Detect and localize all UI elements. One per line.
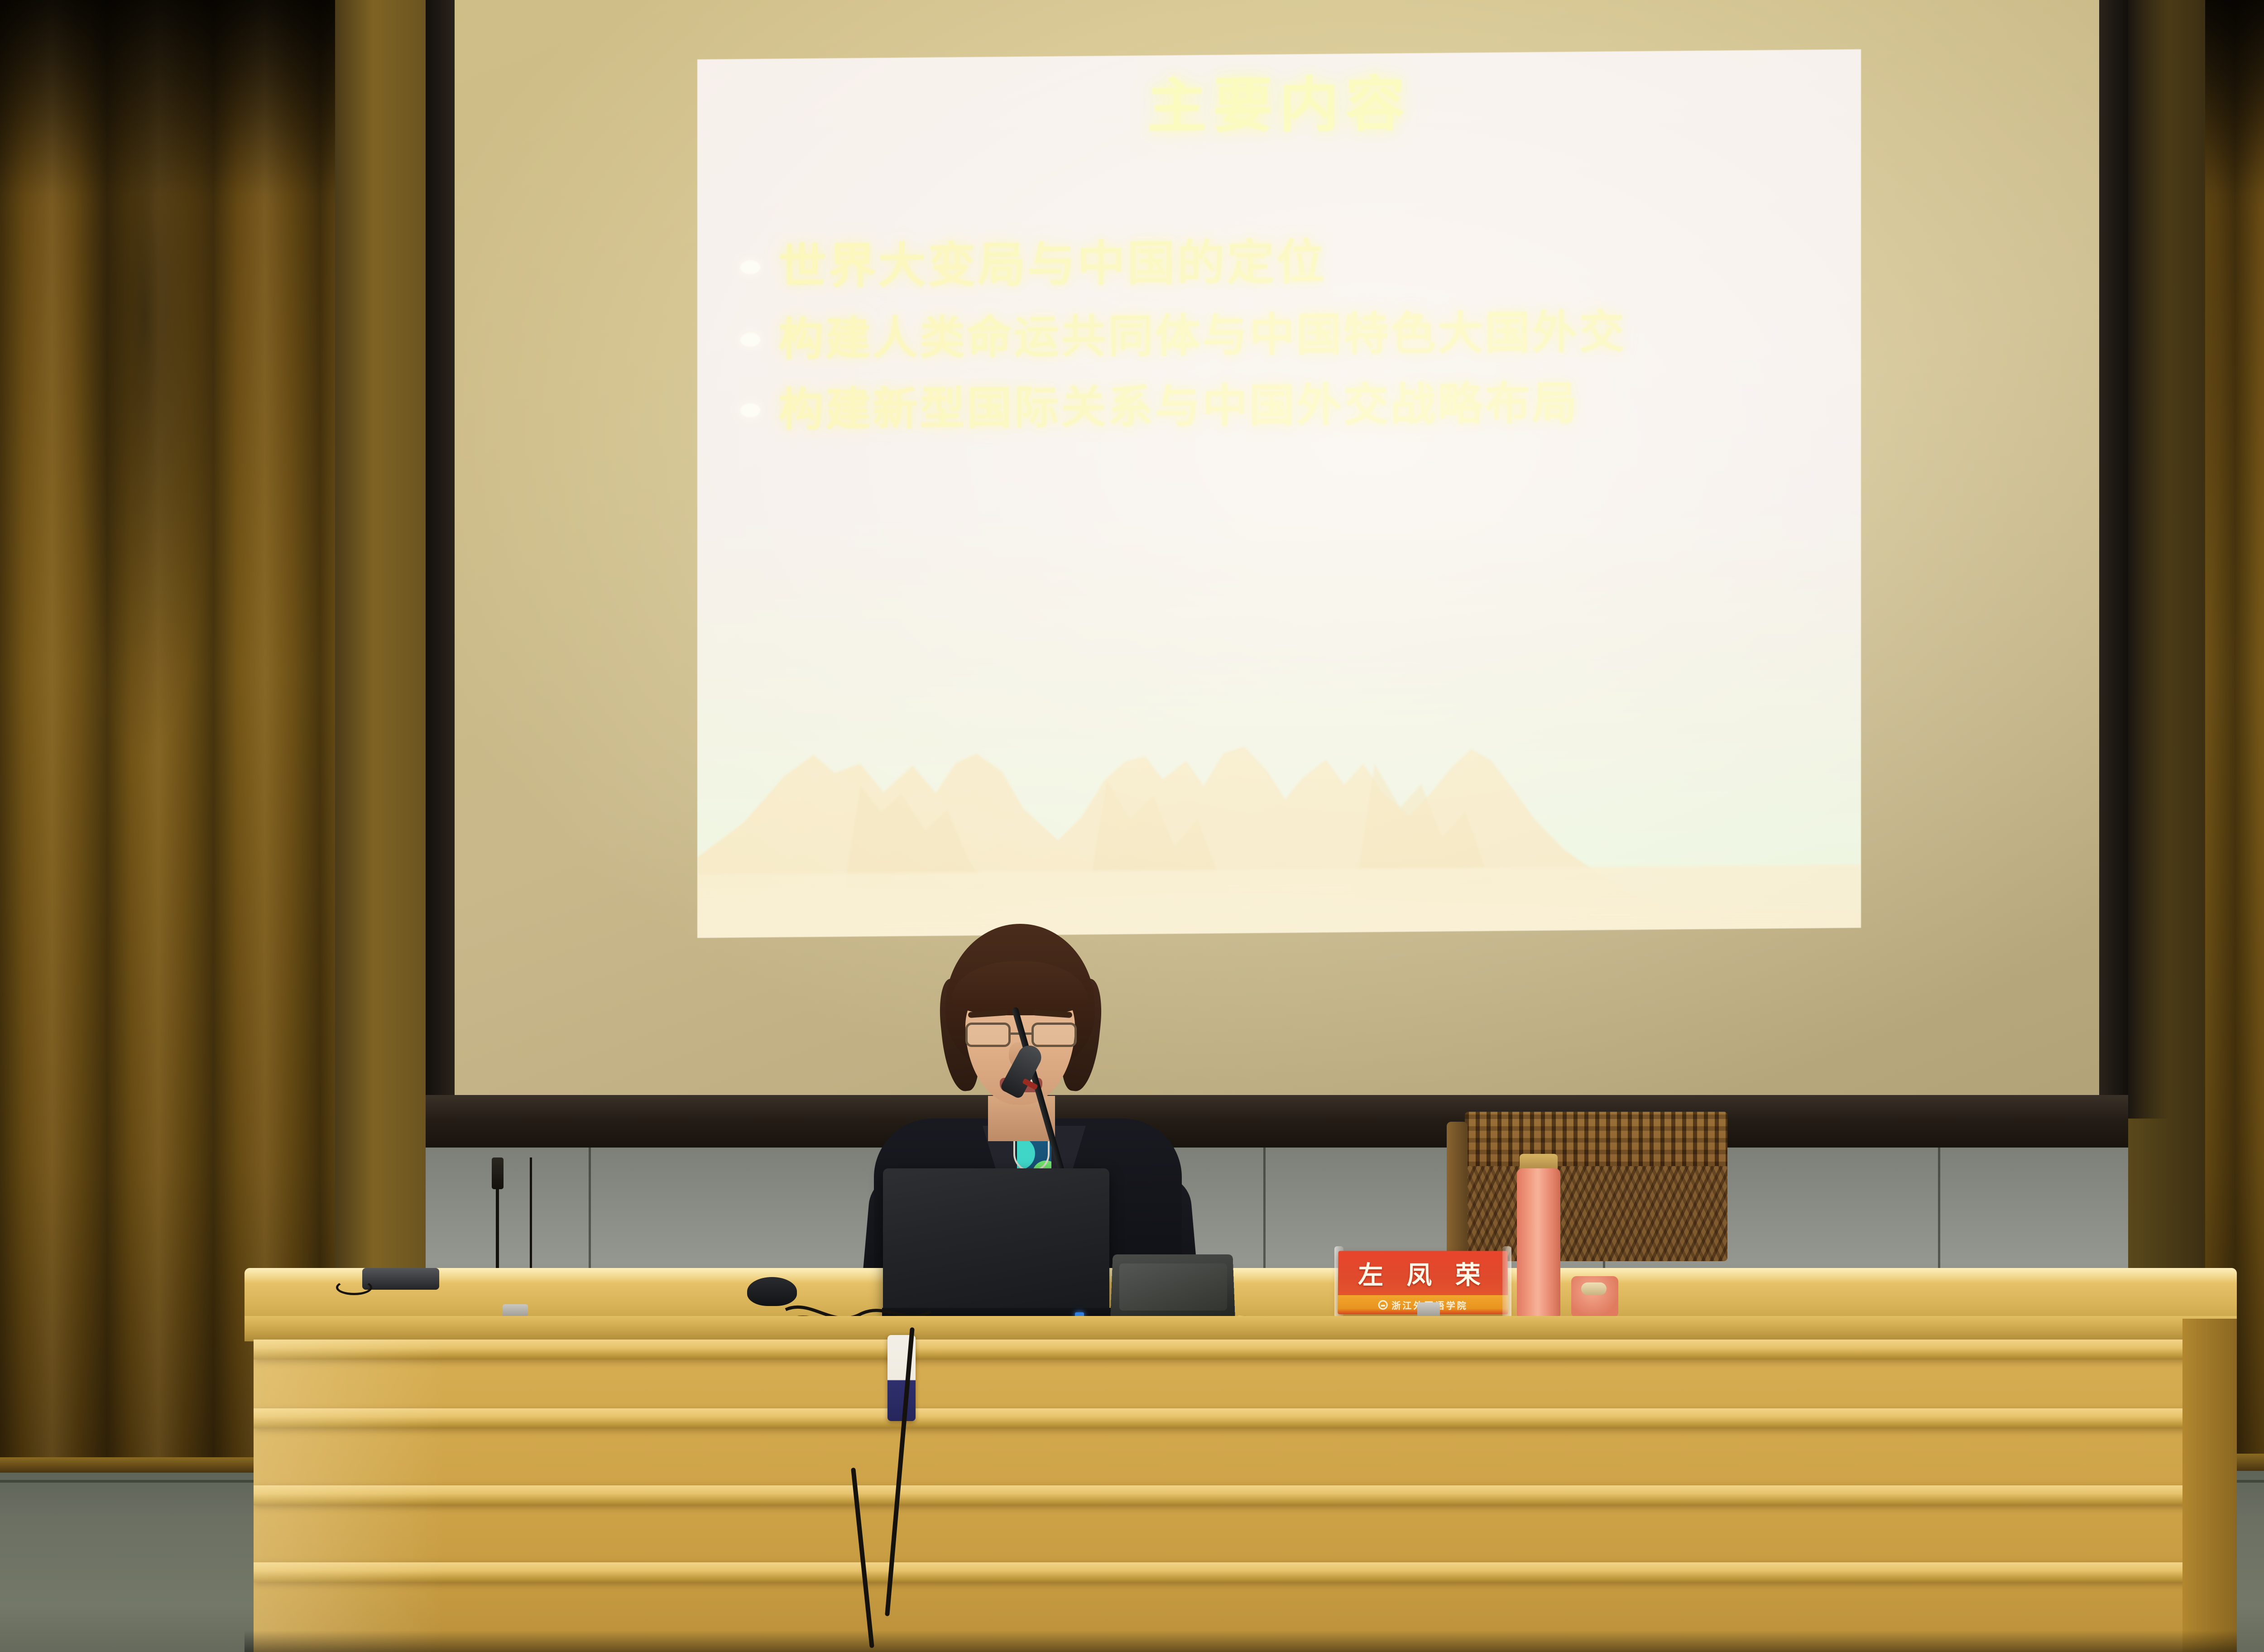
- slide-bullet-item: 构建新型国际关系与中国外交战略布局: [740, 375, 1843, 436]
- screen-right-shadow: [2128, 0, 2169, 1119]
- bullet-dot-icon: [740, 403, 760, 417]
- necklace: [1013, 1137, 1050, 1172]
- podium-desk-edge: [245, 1316, 2237, 1341]
- screen-frame-edge-right: [2099, 0, 2128, 1150]
- podium-ridge: [254, 1485, 2232, 1505]
- wall-trim-left: [335, 0, 430, 1340]
- projected-slide: 主要内容 世界大变局与中国的定位 构建人类命运共同体与中国特色大国外交 构建新型…: [697, 49, 1861, 938]
- nameplate-name: 左 凤 荣: [1358, 1255, 1488, 1292]
- university-logo-icon: [1378, 1300, 1387, 1310]
- slide-title: 主要内容: [697, 67, 1861, 144]
- podium-ridge: [254, 1408, 2232, 1428]
- slide-bullet-list: 世界大变局与中国的定位 构建人类命运共同体与中国特色大国外交 构建新型国际关系与…: [740, 231, 1843, 455]
- podium-desk-gloss: [245, 1268, 2237, 1283]
- microphone-base-face: [1119, 1263, 1227, 1311]
- slide-bullet-text: 构建人类命运共同体与中国特色大国外交: [778, 306, 1626, 365]
- glasses-lens-right: [1031, 1023, 1077, 1047]
- glasses-lens-left: [965, 1023, 1011, 1047]
- podium-ridge: [254, 1340, 2232, 1359]
- podium-highlight: [254, 1340, 444, 1652]
- remote-cable: [336, 1280, 372, 1295]
- podium-front-panel: [254, 1340, 2232, 1652]
- laptop[interactable]: [883, 1168, 1109, 1318]
- chair-back-top-weave: [1465, 1112, 1727, 1166]
- nameplate-holder-right: [1502, 1246, 1511, 1318]
- presenter-remote[interactable]: [362, 1268, 439, 1290]
- bullet-dot-icon: [740, 333, 760, 346]
- slide-bullet-text: 构建新型国际关系与中国外交战略布局: [778, 377, 1579, 436]
- thermos-bottle[interactable]: [1517, 1168, 1560, 1318]
- rattan-chair: [1447, 1112, 1727, 1275]
- podium-ridge: [254, 1562, 2232, 1582]
- podium-base-shadow: [245, 1630, 2237, 1652]
- hanging-plug: [492, 1157, 504, 1189]
- slide-bullet-item: 构建人类命运共同体与中国特色大国外交: [740, 304, 1843, 365]
- podium-side-right: [2182, 1319, 2237, 1652]
- nameplate-top-band: 左 凤 荣: [1338, 1251, 1508, 1295]
- lecture-hall-scene: 主要内容 世界大变局与中国的定位 构建人类命运共同体与中国特色大国外交 构建新型…: [0, 0, 2264, 1652]
- chair-post: [1447, 1122, 1468, 1258]
- screen-frame-edge-left: [426, 0, 455, 1150]
- bullet-dot-icon: [740, 260, 760, 274]
- slide-bullet-item: 世界大变局与中国的定位: [740, 231, 1843, 295]
- thermos-lid[interactable]: [1571, 1276, 1618, 1318]
- slide-bullet-text: 世界大变局与中国的定位: [778, 235, 1326, 294]
